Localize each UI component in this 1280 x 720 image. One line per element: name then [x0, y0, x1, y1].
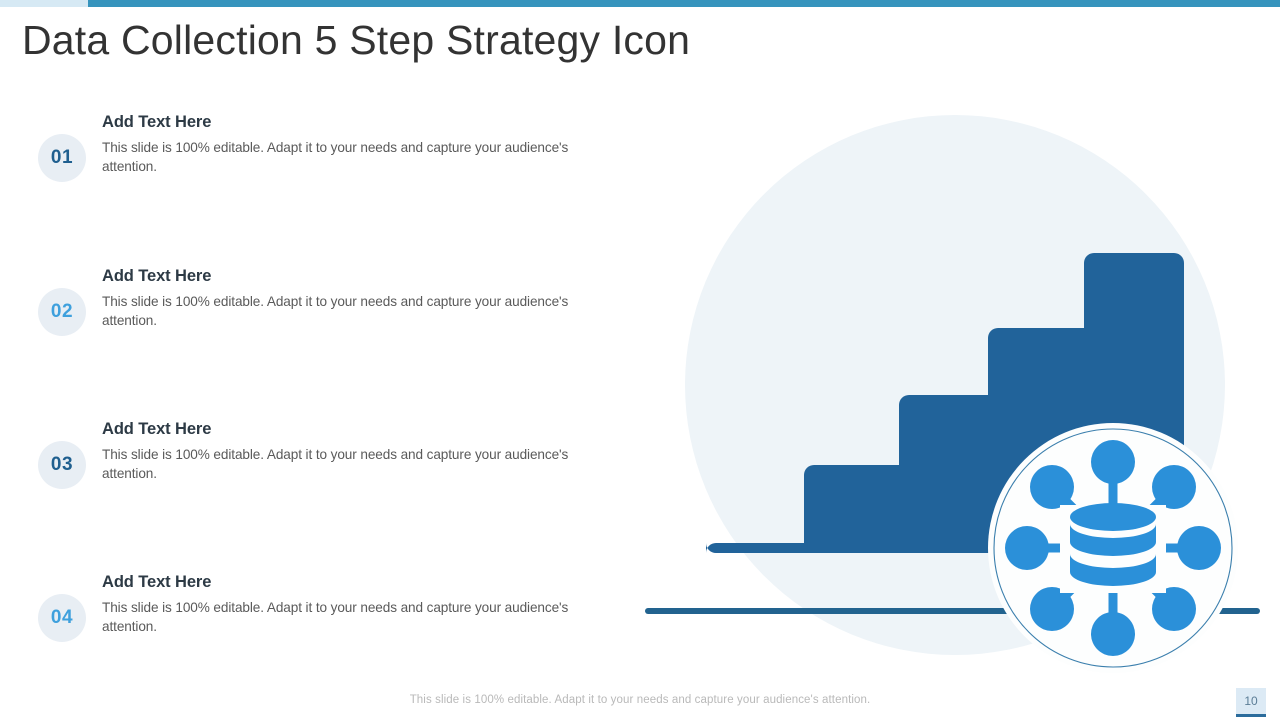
network-node-w: [1005, 526, 1049, 570]
list-item[interactable]: 01 Add Text Here This slide is 100% edit…: [38, 134, 598, 234]
page-number: 10: [1236, 688, 1266, 717]
step-text-block: Add Text Here This slide is 100% editabl…: [102, 267, 602, 330]
network-node-sw: [1030, 587, 1074, 631]
step-heading: Add Text Here: [102, 420, 602, 440]
step-number-badge: 02: [38, 288, 86, 336]
network-node-n: [1091, 440, 1135, 484]
step-text-block: Add Text Here This slide is 100% editabl…: [102, 420, 602, 483]
list-item[interactable]: 02 Add Text Here This slide is 100% edit…: [38, 288, 598, 388]
step-number: 02: [51, 301, 73, 323]
step-number: 04: [51, 607, 73, 629]
step-number: 01: [51, 147, 73, 169]
step-number-badge: 04: [38, 594, 86, 642]
list-item[interactable]: 04 Add Text Here This slide is 100% edit…: [38, 594, 598, 694]
step-description: This slide is 100% editable. Adapt it to…: [102, 138, 602, 177]
step-heading: Add Text Here: [102, 573, 602, 593]
step-heading: Add Text Here: [102, 267, 602, 287]
slide-canvas: Data Collection 5 Step Strategy Icon 01 …: [0, 0, 1280, 720]
network-node-e: [1177, 526, 1221, 570]
db-top-disc: [1070, 503, 1156, 531]
list-item[interactable]: 03 Add Text Here This slide is 100% edit…: [38, 441, 598, 541]
network-node-se: [1152, 587, 1196, 631]
data-network-icon: [988, 423, 1238, 673]
step-number: 03: [51, 454, 73, 476]
network-node-ne: [1152, 465, 1196, 509]
staircase-data-network-graphic: [620, 80, 1280, 680]
step-number-badge: 03: [38, 441, 86, 489]
database-cylinder: [1060, 503, 1166, 598]
step-description: This slide is 100% editable. Adapt it to…: [102, 292, 602, 331]
step-description: This slide is 100% editable. Adapt it to…: [102, 598, 602, 637]
network-node-nw: [1030, 465, 1074, 509]
network-node-s: [1091, 612, 1135, 656]
step-text-block: Add Text Here This slide is 100% editabl…: [102, 113, 602, 176]
step-number-badge: 01: [38, 134, 86, 182]
footer-note: This slide is 100% editable. Adapt it to…: [0, 694, 1280, 706]
step-heading: Add Text Here: [102, 113, 602, 133]
step-description: This slide is 100% editable. Adapt it to…: [102, 445, 602, 484]
step-text-block: Add Text Here This slide is 100% editabl…: [102, 573, 602, 636]
steps-list: 01 Add Text Here This slide is 100% edit…: [0, 0, 620, 720]
